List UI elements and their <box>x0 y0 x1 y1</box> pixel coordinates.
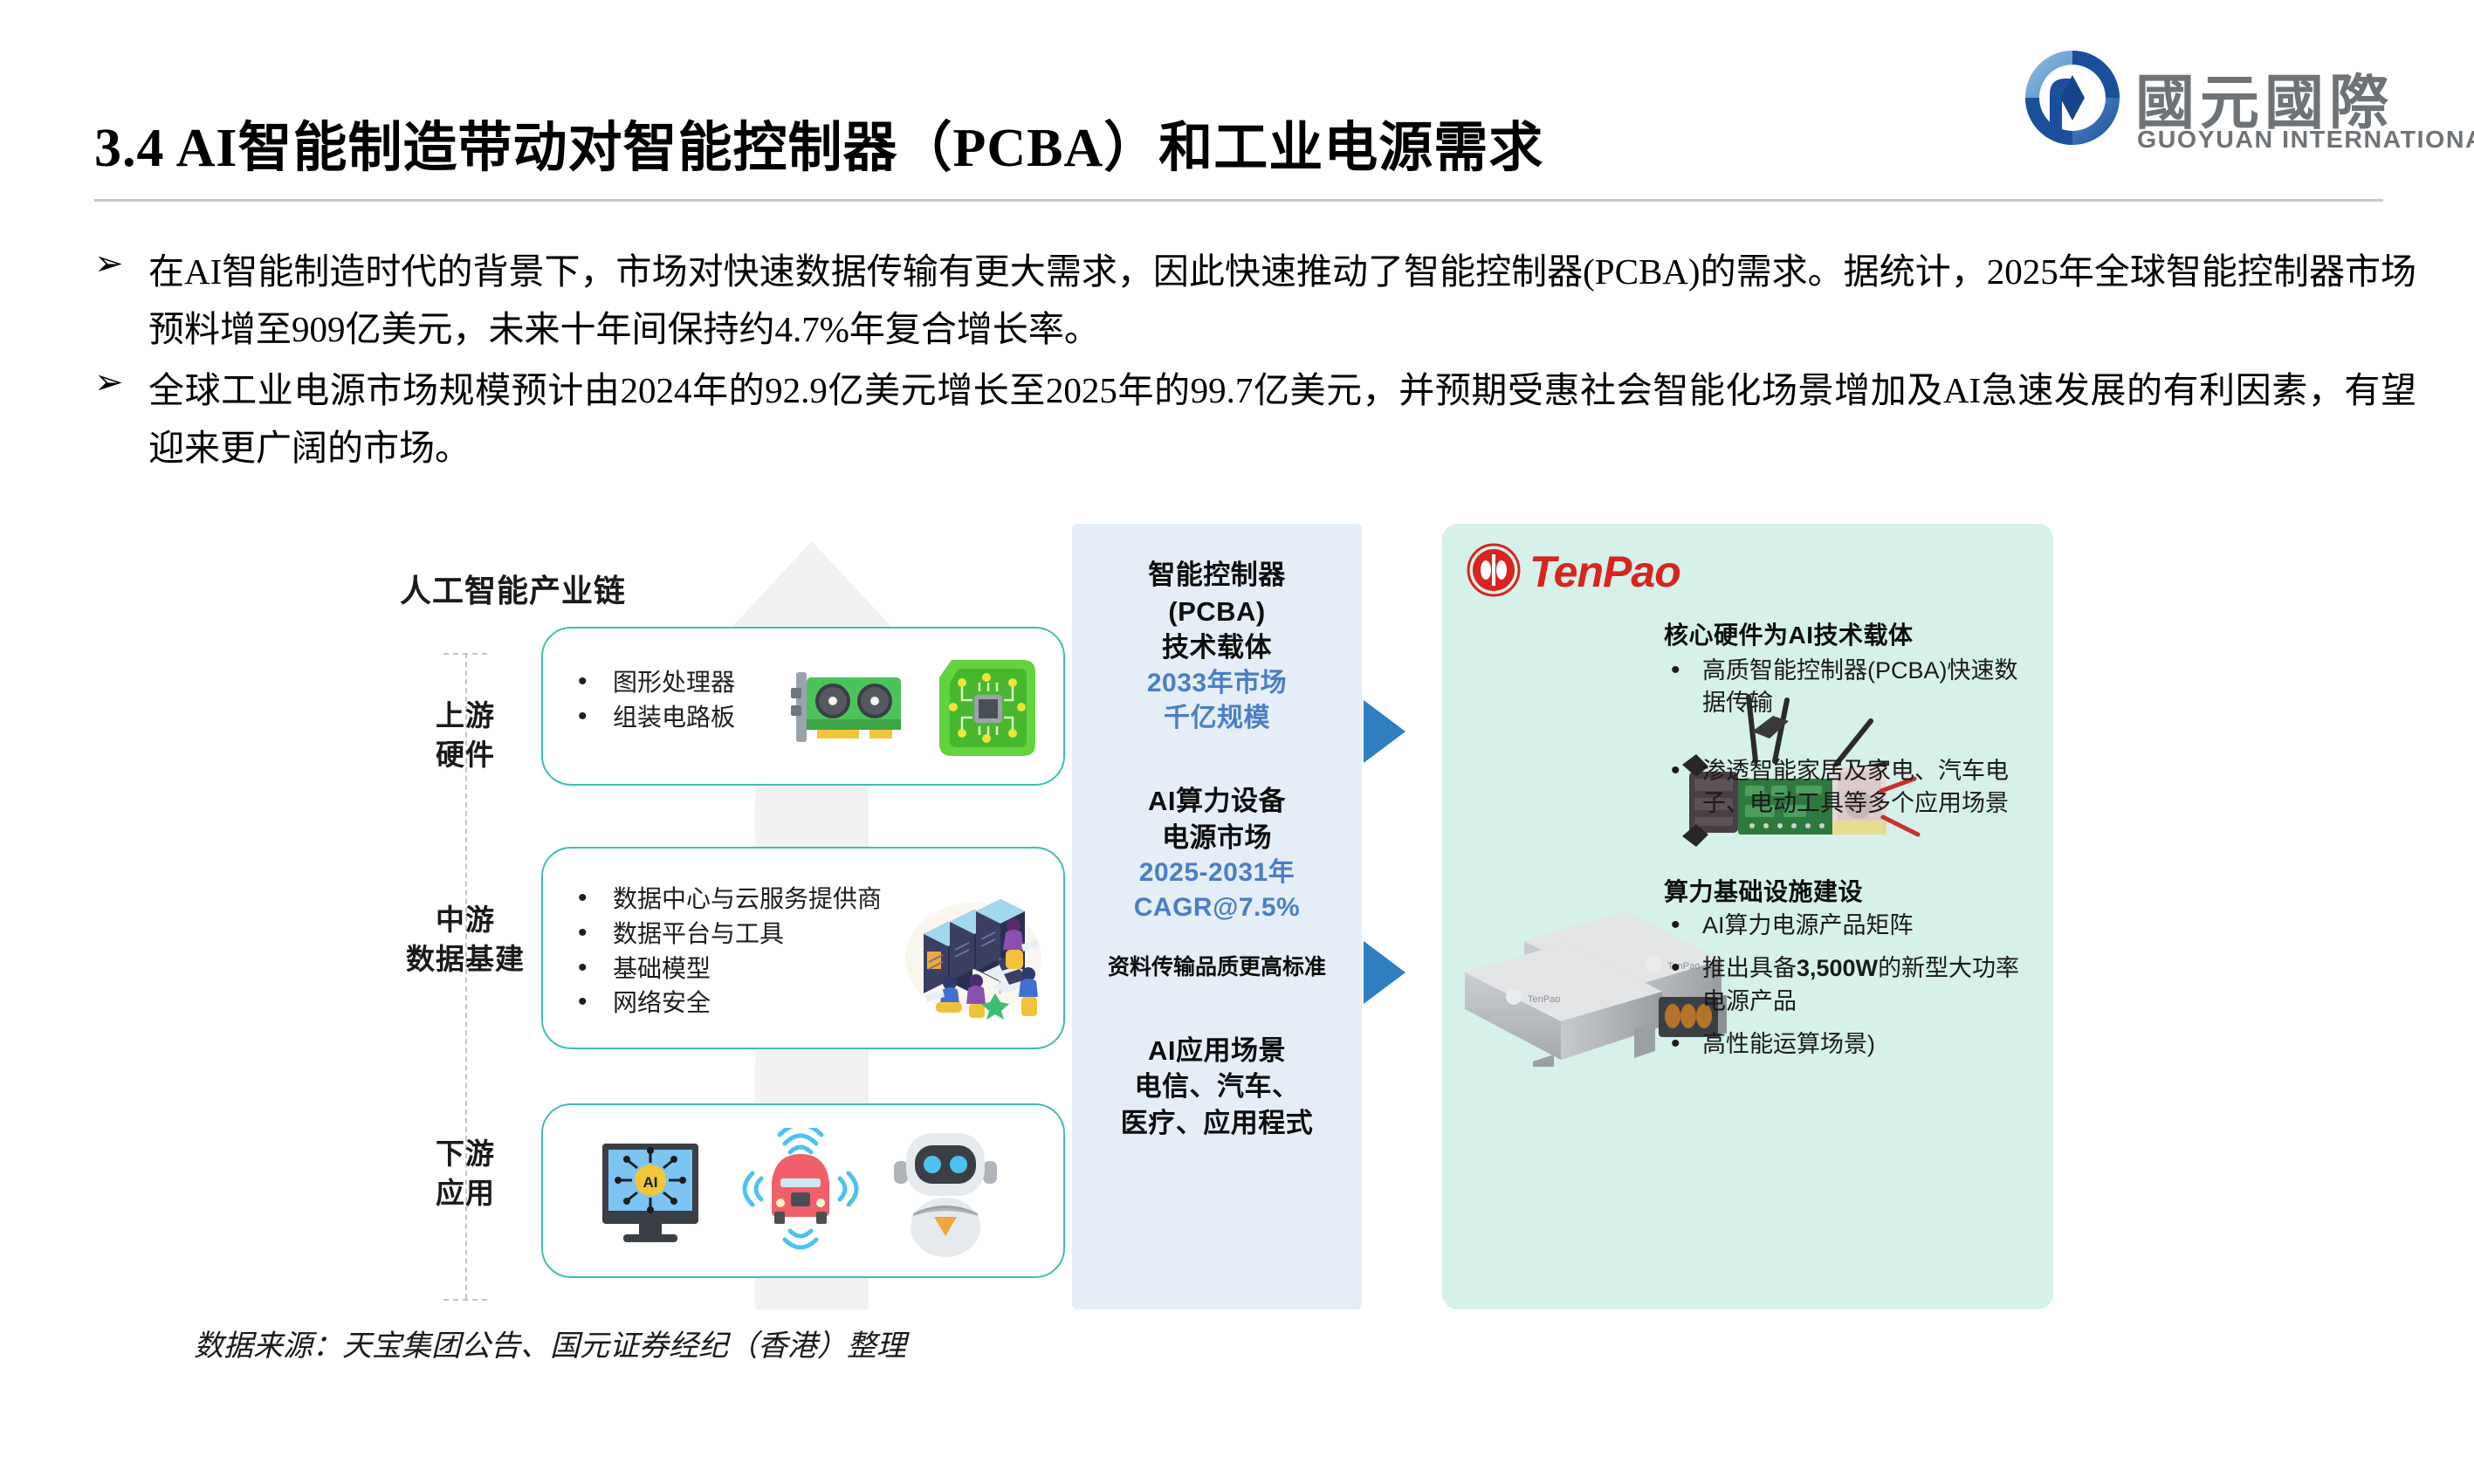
ai-monitor-icon: AI <box>594 1135 707 1248</box>
center-block1-head-line3: 技术载体 <box>1072 629 1362 666</box>
pcb-chip-icon <box>936 656 1039 759</box>
center-block1-sub-line2: 千亿规模 <box>1072 701 1362 736</box>
tenpao-emblem-icon <box>1467 543 1521 597</box>
stage-label-downstream-line1: 下游 <box>382 1135 548 1174</box>
center-block1-head-line2: (PCBA) <box>1072 594 1362 630</box>
gpu-card-icon <box>787 665 910 749</box>
center-block2-sub-line2: CAGR@7.5% <box>1072 890 1362 925</box>
stage-label-upstream-line1: 上游 <box>382 697 548 736</box>
stage-upstream-item-list: 图形处理器 组装电路板 <box>571 665 735 735</box>
center-panel-gap <box>1072 736 1362 783</box>
spine-tick-bottom <box>443 1299 487 1301</box>
list-item: 数据平台与工具 <box>571 917 882 952</box>
center-block1-sub-line1: 2033年市场 <box>1072 666 1362 701</box>
right-section1-list: 高质智能控制器(PCBA)快速数据传输 渗透智能家居及家电、汽车电子、电动工具等… <box>1664 655 2031 830</box>
bullet-arrow-icon: ➢ <box>94 246 124 281</box>
connector-arrow-top-icon <box>1364 700 1405 763</box>
stage-label-downstream-line2: 应用 <box>382 1174 548 1213</box>
bullet-arrow-icon: ➢ <box>94 365 124 400</box>
datacenter-illustration-icon <box>899 878 1048 1021</box>
list-item: 推出具备3,500W的新型大功率电源产品 <box>1664 952 2031 1018</box>
center-summary-panel: 智能控制器 (PCBA) 技术载体 2033年市场 千亿规模 AI算力设备 电源… <box>1072 524 1362 1309</box>
chain-title: 人工智能产业链 <box>400 566 626 611</box>
list-item: AI算力电源产品矩阵 <box>1664 910 2031 942</box>
stage-box-upstream: 图形处理器 组装电路板 <box>541 627 1065 786</box>
company-logo: 國元國際 GUOYUAN INTERNATIONAL <box>2024 45 2425 157</box>
bullet-text-1: 在AI智能制造时代的背景下，市场对快速数据传输有更大需求，因此快速推动了智能控制… <box>148 243 2416 359</box>
right-section2-head: 算力基础设施建设 <box>1664 873 1863 908</box>
list-item: 组装电路板 <box>571 700 735 735</box>
tenpao-logo: TenPao <box>1467 543 1685 599</box>
bullet-paragraph-1: ➢ 在AI智能制造时代的背景下，市场对快速数据传输有更大需求，因此快速推动了智能… <box>94 243 2416 359</box>
list-item: 数据中心与云服务提供商 <box>571 882 882 917</box>
spine-tick-top <box>443 653 487 655</box>
page-title: 3.4 AI智能制造带动对智能控制器（PCBA）和工业电源需求 <box>94 103 1543 182</box>
right-section1-head: 核心硬件为AI技术载体 <box>1664 616 1914 651</box>
stage-label-midstream-line1: 中游 <box>382 901 548 940</box>
center-block2-head-line1: AI算力设备 <box>1072 783 1362 820</box>
center-block2-head-line2: 电源市场 <box>1072 820 1362 856</box>
stage-box-downstream: AI <box>541 1103 1065 1278</box>
right-section2-list: AI算力电源产品矩阵 推出具备3,500W的新型大功率电源产品 高性能运算场景) <box>1664 910 2031 1071</box>
title-divider <box>94 199 2383 202</box>
svg-text:TenPao: TenPao <box>1528 994 1560 1005</box>
center-panel-gap2 <box>1072 925 1362 953</box>
tenpao-wordmark: TenPao <box>1529 546 1680 597</box>
stage-label-upstream: 上游 硬件 <box>382 697 548 774</box>
center-footer-line1: AI应用场景 <box>1072 1033 1362 1069</box>
connector-arrow-bottom-icon <box>1364 941 1405 1004</box>
bullet-text-2: 全球工业电源市场规模预计由2024年的92.9亿美元增长至2025年的99.7亿… <box>148 361 2416 477</box>
source-note: 数据来源：天宝集团公告、国元证券经纪（香港）整理 <box>194 1322 906 1364</box>
stage-label-downstream: 下游 应用 <box>382 1135 548 1213</box>
stage-label-midstream-line2: 数据基建 <box>382 940 548 979</box>
stage-label-upstream-line2: 硬件 <box>382 736 548 775</box>
slide-header: 3.4 AI智能制造带动对智能控制器（PCBA）和工业电源需求 國元國際 GUO… <box>0 0 2474 218</box>
center-quality-note: 资料传输品质更高标准 <box>1072 953 1362 982</box>
center-block1-head-line1: 智能控制器 <box>1072 557 1362 594</box>
stage-label-midstream: 中游 数据基建 <box>382 901 548 979</box>
ai-value-chain-diagram: 人工智能产业链 上游 硬件 图形处理器 组装电路板 <box>0 524 2474 1353</box>
list-item: 图形处理器 <box>571 665 735 700</box>
center-panel-gap3 <box>1072 982 1362 1033</box>
bullet-paragraph-2: ➢ 全球工业电源市场规模预计由2024年的92.9亿美元增长至2025年的99.… <box>94 361 2416 477</box>
stage-box-midstream: 数据中心与云服务提供商 数据平台与工具 基础模型 网络安全 <box>541 847 1065 1049</box>
logo-english-name: GUOYUAN INTERNATIONAL <box>2137 126 2474 154</box>
list-item: 网络安全 <box>571 986 882 1020</box>
guoyuan-circular-emblem-icon <box>2024 49 2121 147</box>
robot-icon <box>889 1126 1002 1257</box>
list-item: 高质智能控制器(PCBA)快速数据传输 <box>1664 655 2031 720</box>
svg-text:AI: AI <box>643 1174 658 1191</box>
smart-car-icon <box>735 1128 866 1255</box>
center-footer-line3: 医疗、应用程式 <box>1072 1105 1362 1142</box>
center-block2-sub-line1: 2025-2031年 <box>1072 855 1362 890</box>
list-item: 高性能运算场景) <box>1664 1028 2031 1061</box>
center-footer-line2: 电信、汽车、 <box>1072 1068 1362 1105</box>
list-item: 渗透智能家居及家电、汽车电子、电动工具等多个应用场景 <box>1664 755 2031 821</box>
stage-midstream-item-list: 数据中心与云服务提供商 数据平台与工具 基础模型 网络安全 <box>571 882 882 1020</box>
tenpao-highlight-panel: TenPao <box>1442 524 2053 1309</box>
list-item: 基础模型 <box>571 952 882 986</box>
